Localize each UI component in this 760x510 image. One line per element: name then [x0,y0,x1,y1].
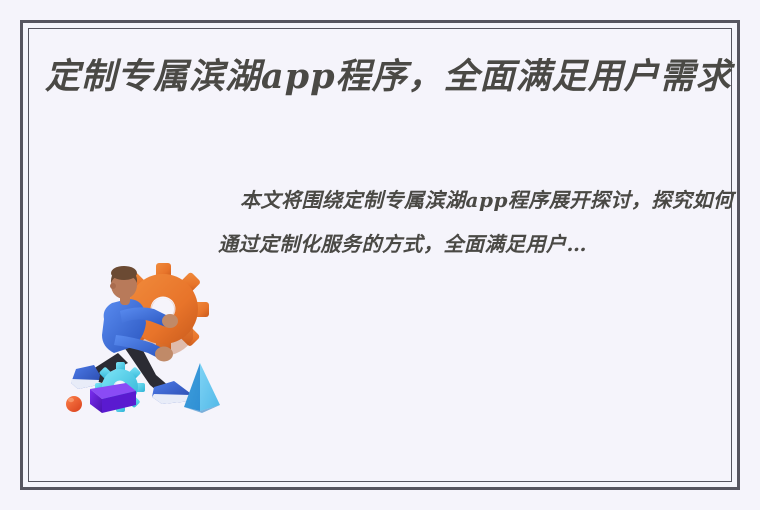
page-title: 定制专属滨湖app程序，全面满足用户需求 [45,53,735,101]
person-carrying-gear-illustration [58,261,233,421]
orange-sphere-shape [66,396,82,412]
blue-pyramid-shape [184,363,220,413]
article-summary: 本文将围绕定制专属滨湖app程序展开探讨，探究如何通过定制化服务的方式，全面满足… [218,178,738,266]
article-card: 定制专属滨湖app程序，全面满足用户需求 本文将围绕定制专属滨湖app程序展开探… [20,20,740,490]
